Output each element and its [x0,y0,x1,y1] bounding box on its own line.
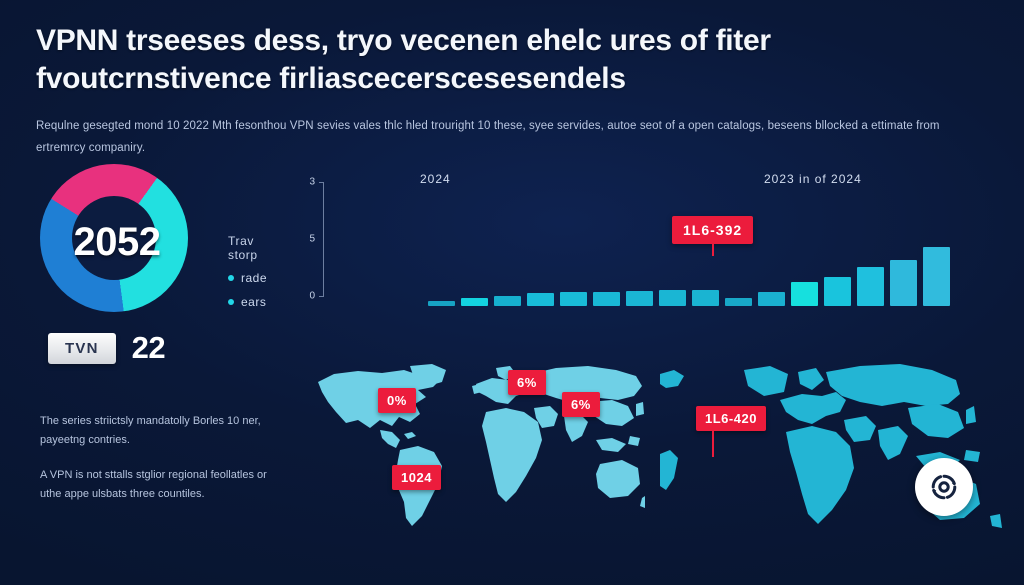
page-title: VPNN trseeses dess, tryo vecenen ehelc u… [36,22,856,99]
map-badge-label: 6% [517,375,537,390]
notes-block: The series striictsly mandatolly Borles … [40,412,290,520]
bar [494,296,521,306]
legend-item-label: rade [241,271,267,285]
donut-chart-block: 2052 Trav storp rade ears [40,172,190,302]
legend-title: Trav storp [228,234,267,262]
y-tick-label: 0 [309,291,315,302]
bar [923,247,950,306]
axis-cap-top [319,182,324,183]
bar [659,290,686,306]
bar [461,298,488,306]
y-tick-label: 5 [309,234,315,245]
map-badge[interactable]: 1024 [392,465,441,490]
chart-label-right: 2023 in of 2024 [764,172,862,186]
map-badge[interactable]: 6% [562,392,600,417]
target-orbit-icon [926,469,962,505]
bar [692,290,719,306]
bar [560,292,587,306]
callout-stem [712,244,714,256]
bar [428,301,455,306]
bar-chart: 3 5 0 2024 2023 in of 2024 1L6-392 [298,172,958,312]
map-badge-stem [712,431,714,457]
legend-dot-icon [228,275,234,281]
chart-label-left: 2024 [420,172,451,186]
bar [527,293,554,306]
map-badge-label: 6% [571,397,591,412]
axis-cap-bottom [319,296,324,297]
bar [824,277,851,306]
bar-series [428,192,950,306]
map-badge-label: 1L6-420 [705,411,757,426]
legend-item: rade [228,271,267,285]
map-badge[interactable]: 1L6-420 [696,406,766,431]
infographic-canvas: VPNN trseeses dess, tryo vecenen ehelc u… [0,0,1024,585]
brand-logo[interactable] [915,458,973,516]
legend-item-label: ears [241,295,266,309]
bar [890,260,917,306]
bar [725,298,752,306]
world-map-left: 0% 6% 6% 1024 [300,360,645,538]
donut-legend: Trav storp rade ears [228,234,267,319]
tvn-value: 22 [132,330,165,366]
y-tick-label: 3 [309,177,315,188]
chart-y-axis: 3 5 0 [298,176,324,302]
tvn-stat-block: TVN 22 [48,330,165,366]
legend-item: ears [228,295,267,309]
header: VPNN trseeses dess, tryo vecenen ehelc u… [36,22,856,160]
donut-center-value: 2052 [32,220,202,265]
world-map-right: 1L6-420 [660,358,1012,540]
bar [593,292,620,306]
world-map-left-svg [300,360,645,538]
page-subtitle: Requlne gesegted mond 10 2022 Mth fesont… [36,115,951,160]
map-badge-label: 0% [387,393,407,408]
tvn-badge: TVN [48,333,116,364]
map-badge[interactable]: 0% [378,388,416,413]
bar [758,292,785,306]
donut-chart: 2052 [40,172,190,302]
bar [857,267,884,306]
map-badge-label: 1024 [401,470,432,485]
note-paragraph: A VPN is not sttalls stglior regional fe… [40,466,290,504]
chart-callout-badge[interactable]: 1L6-392 [672,216,753,244]
map-badge[interactable]: 6% [508,370,546,395]
bar [791,282,818,306]
chart-callout-label: 1L6-392 [683,222,742,238]
note-paragraph: The series striictsly mandatolly Borles … [40,412,290,450]
legend-dot-icon [228,299,234,305]
bar [626,291,653,306]
axis-line [323,182,324,296]
